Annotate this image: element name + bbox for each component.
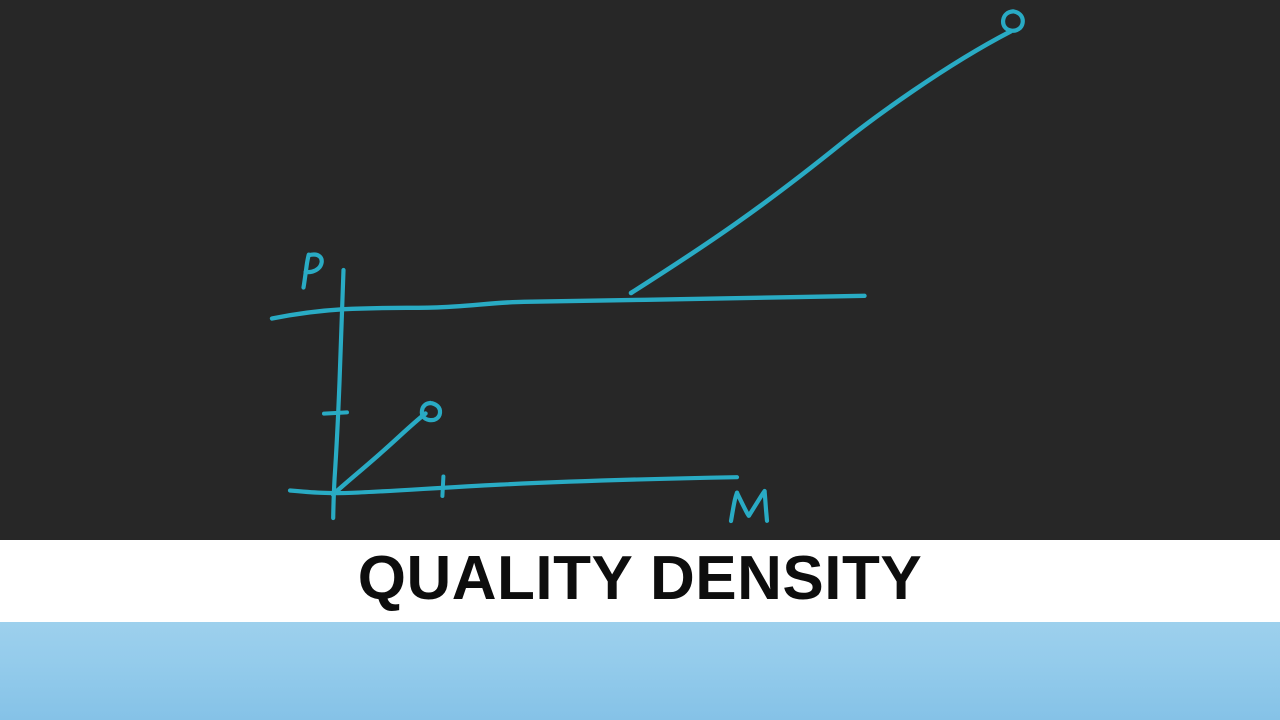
x-axis-tick — [442, 477, 443, 497]
sketch-canvas — [0, 0, 1280, 540]
slide-root: QUALITY DENSITY — [0, 0, 1280, 720]
horizontal-axis — [290, 477, 737, 493]
flat-upper-line — [272, 296, 865, 319]
hand-drawn-sketch — [0, 0, 1280, 540]
circle-marker-upper-right — [1003, 11, 1023, 30]
accent-bar — [0, 622, 1280, 720]
rising-line — [631, 32, 1011, 294]
y-axis-tick — [324, 412, 347, 413]
short-diagonal-line — [333, 414, 426, 495]
title-band: QUALITY DENSITY — [0, 540, 1280, 622]
page-title: QUALITY DENSITY — [358, 548, 922, 614]
m-axis-label — [731, 491, 767, 521]
p-axis-label — [304, 255, 322, 288]
